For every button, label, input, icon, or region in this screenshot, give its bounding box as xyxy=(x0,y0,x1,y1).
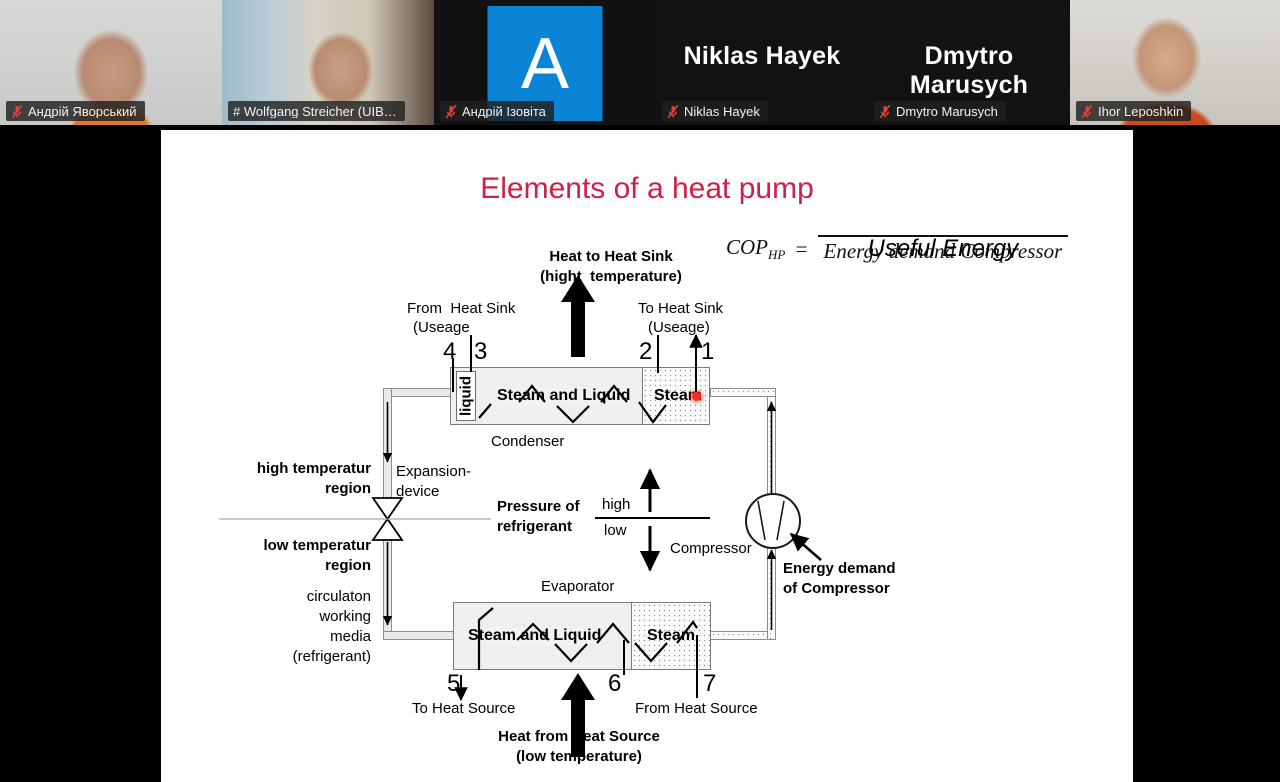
participant-name: Андрій Яворський xyxy=(28,105,137,118)
avatar-letter: A xyxy=(521,28,569,100)
diagram-vector-overlay xyxy=(161,130,1133,782)
mic-muted-icon xyxy=(445,104,457,119)
participant-tile-2[interactable]: # Wolfgang Streicher (UIB… xyxy=(222,0,434,125)
participant-namebar: Niklas Hayek xyxy=(662,101,768,121)
participant-name: Андрій Ізовіта xyxy=(462,105,546,118)
participant-display-name: Niklas Hayek xyxy=(656,42,868,71)
participant-strip: Андрій Яворський # Wolfgang Streicher (U… xyxy=(0,0,1280,125)
mic-muted-icon xyxy=(11,104,23,119)
heat-in-arrow xyxy=(561,673,595,757)
screen: Андрій Яворський # Wolfgang Streicher (U… xyxy=(0,0,1280,782)
compressor-blades xyxy=(758,501,784,540)
participant-namebar: # Wolfgang Streicher (UIB… xyxy=(228,101,405,121)
participant-tile-6[interactable]: Ihor Leposhkin xyxy=(1070,0,1280,125)
mic-muted-icon xyxy=(667,104,679,119)
participant-display-name: Dmytro Marusych xyxy=(868,42,1070,100)
participant-tile-3[interactable]: A Андрій Ізовіта xyxy=(434,0,656,125)
participant-namebar: Dmytro Marusych xyxy=(874,101,1006,121)
participant-tile-4[interactable]: Niklas Hayek Niklas Hayek xyxy=(656,0,868,125)
participant-name: Ihor Leposhkin xyxy=(1098,105,1183,118)
condenser-phase-zigzag xyxy=(479,386,666,422)
energy-demand-callout-arrow xyxy=(791,534,821,560)
participant-name: Niklas Hayek xyxy=(684,105,760,118)
heat-out-arrow xyxy=(561,275,595,357)
shared-slide[interactable]: Elements of a heat pump COPHP = Useful E… xyxy=(161,130,1133,782)
participant-namebar: Ihor Leposhkin xyxy=(1076,101,1191,121)
participant-namebar: Андрій Ізовіта xyxy=(440,101,554,121)
evaporator-phase-zigzag xyxy=(479,608,697,670)
mic-muted-icon xyxy=(1081,104,1093,119)
participant-namebar: Андрій Яворський xyxy=(6,101,145,121)
mic-muted-icon xyxy=(879,104,891,119)
participant-tile-1[interactable]: Андрій Яворський xyxy=(0,0,222,125)
participant-tile-5[interactable]: Dmytro Marusych Dmytro Marusych xyxy=(868,0,1070,125)
participant-name: Dmytro Marusych xyxy=(896,105,998,118)
participant-name: # Wolfgang Streicher (UIB… xyxy=(233,105,397,118)
